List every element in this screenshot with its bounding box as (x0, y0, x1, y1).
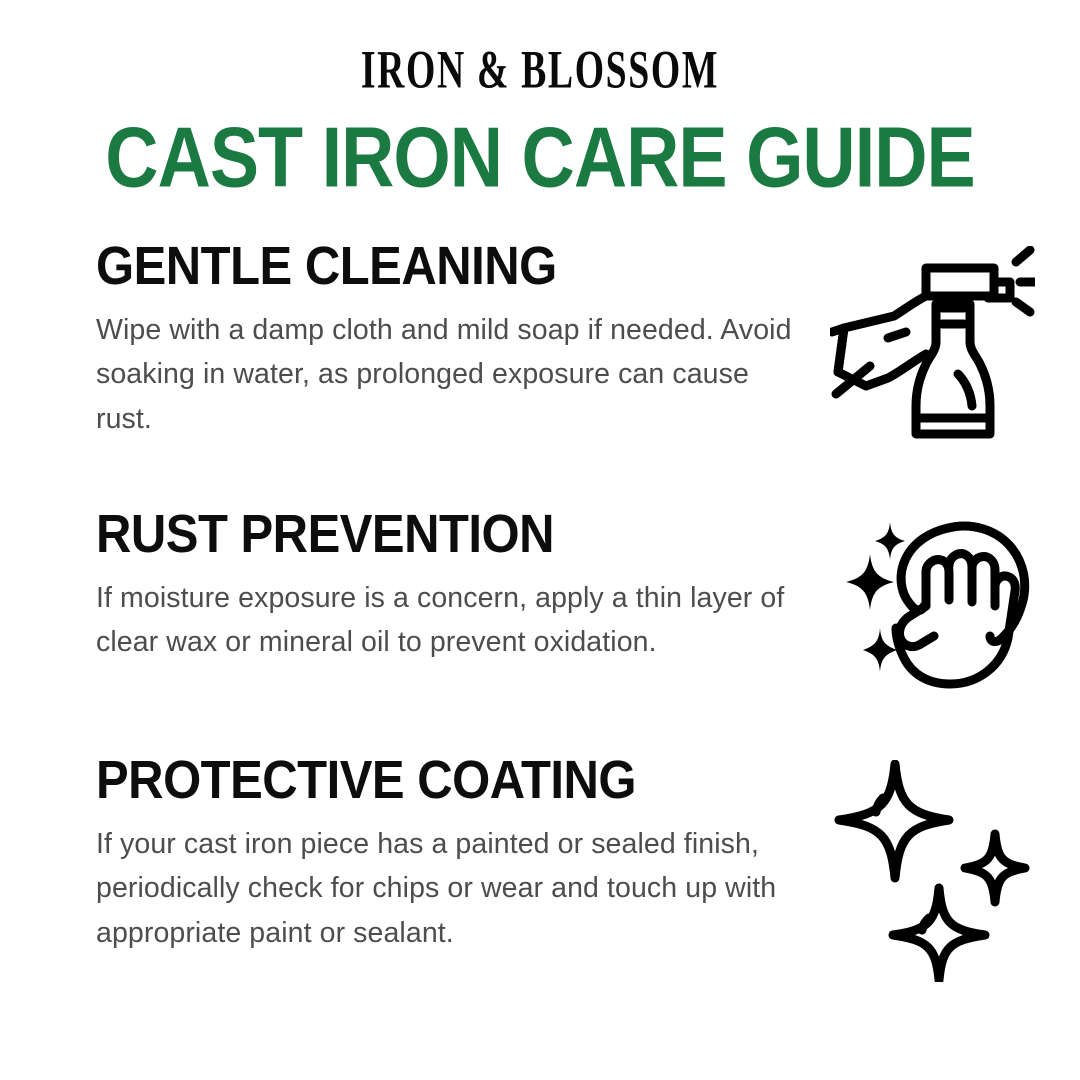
section-icon-wrapper (825, 508, 1040, 692)
page-title: CAST IRON CARE GUIDE (16, 116, 1064, 201)
section-heading: PROTECTIVE COATING (96, 754, 811, 809)
hand-wiping-cloth-icon (830, 520, 1035, 692)
section-icon-wrapper (825, 240, 1040, 446)
section-body: If your cast iron piece has a painted or… (96, 822, 811, 955)
section-gentle-cleaning: GENTLE CLEANING Wipe with a damp cloth a… (0, 240, 1080, 446)
section-rust-prevention: RUST PREVENTION If moisture exposure is … (0, 508, 1080, 692)
section-body: Wipe with a damp cloth and mild soap if … (96, 308, 811, 441)
section-icon-wrapper (825, 754, 1040, 982)
brand-logo: IRON & BLOSSOM (97, 0, 983, 97)
care-guide-page: IRON & BLOSSOM CAST IRON CARE GUIDE GENT… (0, 0, 1080, 1080)
spray-bottle-icon (830, 246, 1035, 446)
sparkles-icon (825, 760, 1040, 982)
section-text-block: GENTLE CLEANING Wipe with a damp cloth a… (96, 240, 811, 441)
section-text-block: PROTECTIVE COATING If your cast iron pie… (96, 754, 811, 955)
section-text-block: RUST PREVENTION If moisture exposure is … (96, 508, 811, 665)
section-body: If moisture exposure is a concern, apply… (96, 576, 811, 665)
section-heading: RUST PREVENTION (96, 508, 811, 563)
section-heading: GENTLE CLEANING (96, 240, 811, 295)
care-sections-list: GENTLE CLEANING Wipe with a damp cloth a… (0, 240, 1080, 982)
section-protective-coating: PROTECTIVE COATING If your cast iron pie… (0, 754, 1080, 982)
